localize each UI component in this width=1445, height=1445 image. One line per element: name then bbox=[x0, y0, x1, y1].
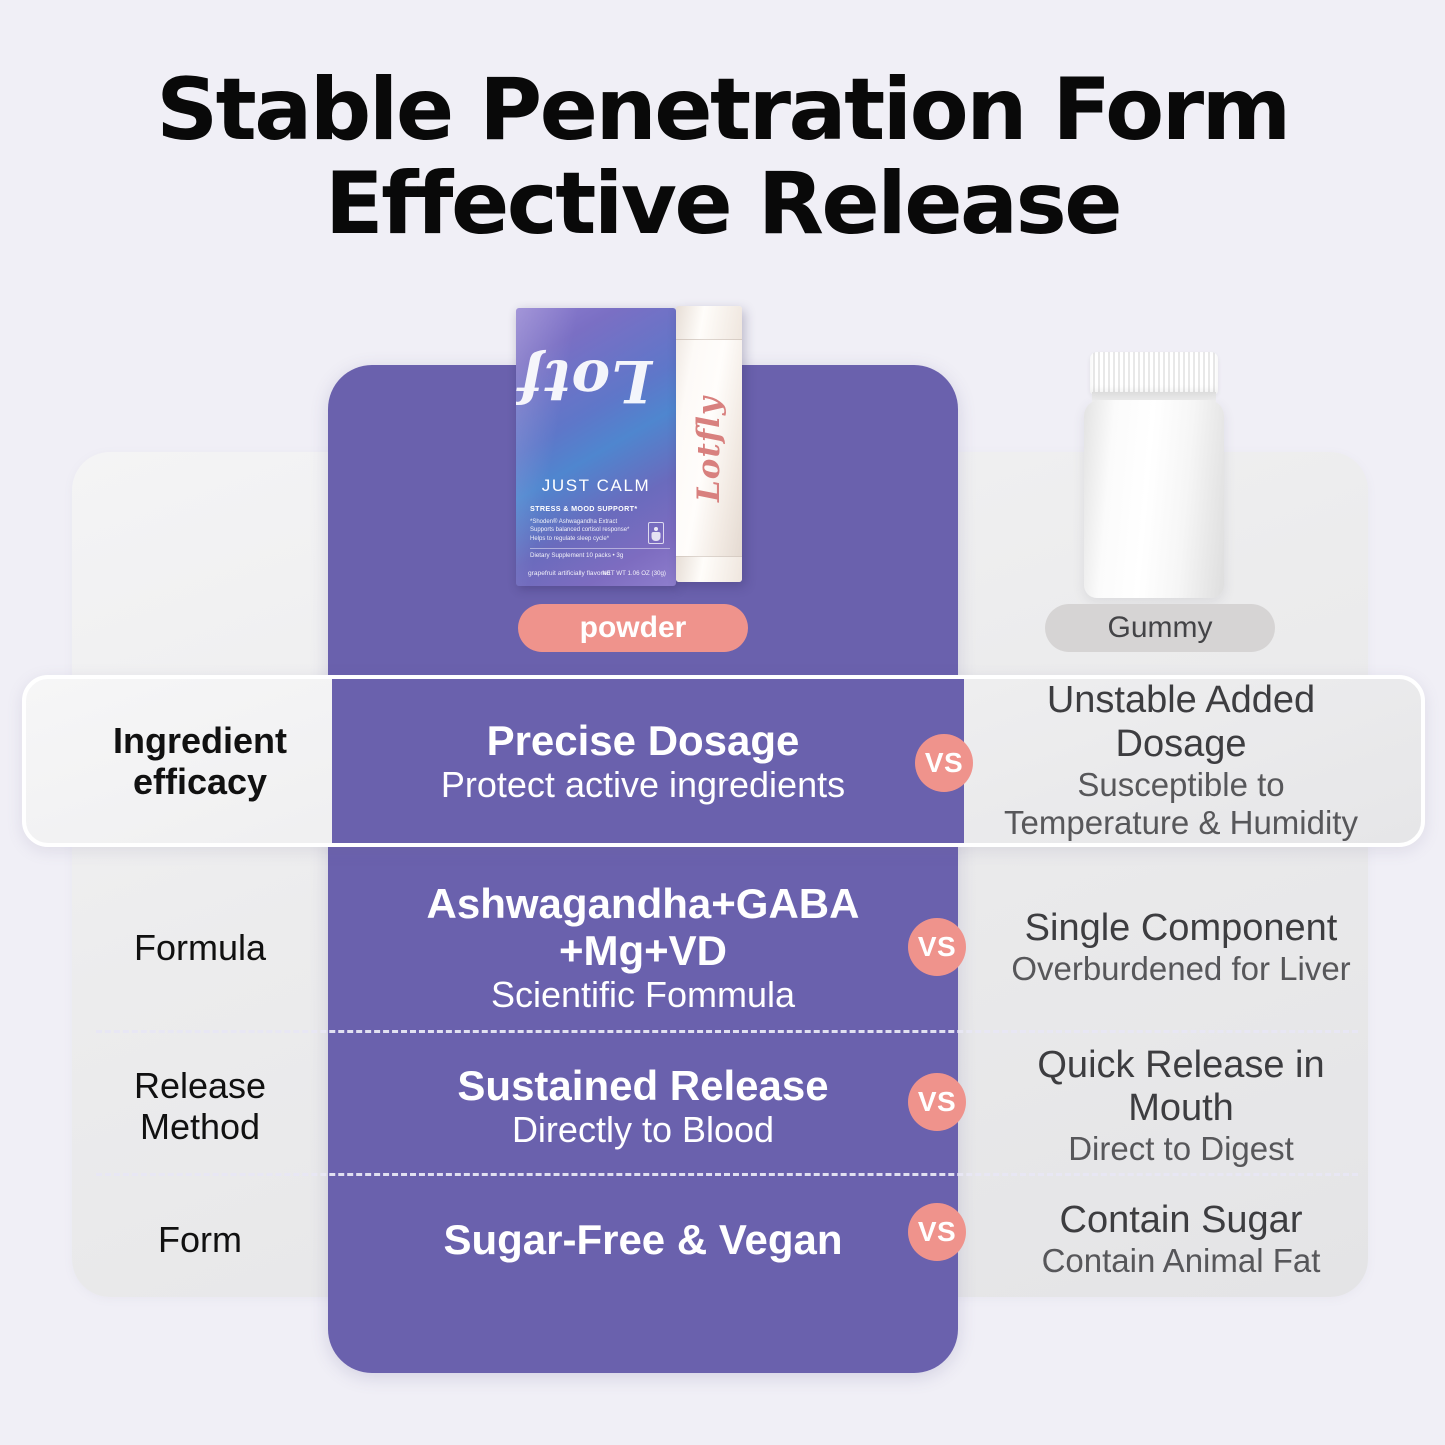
row1-ours-cell: Precise Dosage Protect active ingredient… bbox=[328, 717, 958, 806]
row3-ours-secondary: Directly to Blood bbox=[344, 1109, 942, 1151]
vs-badge-4: VS bbox=[908, 1203, 966, 1261]
row2-theirs-secondary: Overburdened for Liver bbox=[994, 950, 1368, 988]
table-row: Form Sugar-Free & Vegan Contain Sugar Co… bbox=[72, 1182, 1368, 1297]
row1-theirs-cell: Unstable Added Dosage Susceptible to Tem… bbox=[958, 679, 1368, 842]
comparison-table: Ingredient efficacy Precise Dosage Prote… bbox=[0, 0, 1445, 1445]
row4-theirs-secondary: Contain Animal Fat bbox=[994, 1242, 1368, 1280]
row2-ours-cell: Ashwagandha+GABA +Mg+VD Scientific Fommu… bbox=[328, 880, 958, 1016]
row3-theirs-primary: Quick Release in Mouth bbox=[994, 1044, 1368, 1131]
vs-badge-2: VS bbox=[908, 918, 966, 976]
row2-ours-primary: Ashwagandha+GABA +Mg+VD bbox=[344, 880, 942, 974]
row3-ours-primary: Sustained Release bbox=[344, 1062, 942, 1109]
row-label-ingredient-efficacy: Ingredient efficacy bbox=[72, 720, 328, 802]
row4-ours-primary: Sugar-Free & Vegan bbox=[344, 1216, 942, 1263]
row-label-form: Form bbox=[72, 1219, 328, 1260]
row1-theirs-primary: Unstable Added Dosage bbox=[994, 679, 1368, 766]
table-row: Release Method Sustained Release Directl… bbox=[72, 1042, 1368, 1170]
row3-theirs-cell: Quick Release in Mouth Direct to Digest bbox=[958, 1044, 1368, 1169]
row2-ours-secondary: Scientific Fommula bbox=[344, 974, 942, 1016]
row2-theirs-cell: Single Component Overburdened for Liver bbox=[958, 907, 1368, 989]
row3-ours-cell: Sustained Release Directly to Blood bbox=[328, 1062, 958, 1151]
vs-badge-3: VS bbox=[908, 1073, 966, 1131]
row-divider-1 bbox=[96, 1030, 1358, 1033]
table-row: Formula Ashwagandha+GABA +Mg+VD Scientif… bbox=[72, 865, 1368, 1030]
row3-theirs-secondary: Direct to Digest bbox=[994, 1130, 1368, 1168]
row-divider-2 bbox=[96, 1173, 1358, 1176]
table-row: Ingredient efficacy Precise Dosage Prote… bbox=[72, 690, 1368, 832]
row1-ours-primary: Precise Dosage bbox=[344, 717, 942, 764]
row4-theirs-primary: Contain Sugar bbox=[994, 1199, 1368, 1242]
row-label-formula: Formula bbox=[72, 927, 328, 968]
row-label-release-method: Release Method bbox=[72, 1065, 328, 1147]
row2-theirs-primary: Single Component bbox=[994, 907, 1368, 950]
infographic-root: Stable Penetration Form Effective Releas… bbox=[0, 0, 1445, 1445]
row4-ours-cell: Sugar-Free & Vegan bbox=[328, 1216, 958, 1263]
row1-ours-secondary: Protect active ingredients bbox=[344, 764, 942, 806]
row1-theirs-secondary: Susceptible to Temperature & Humidity bbox=[994, 766, 1368, 843]
row4-theirs-cell: Contain Sugar Contain Animal Fat bbox=[958, 1199, 1368, 1281]
